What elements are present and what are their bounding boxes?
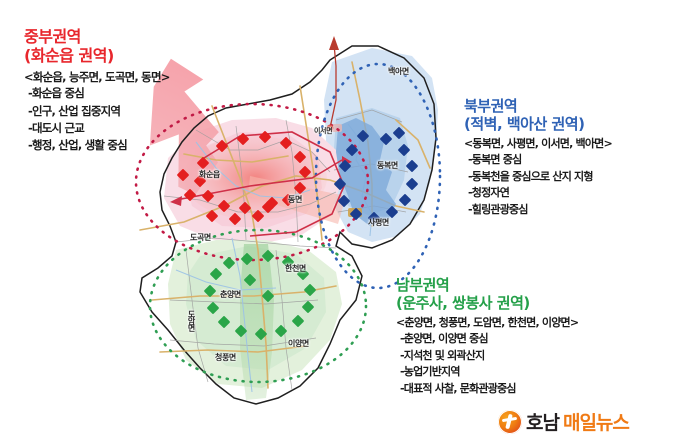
north-title: 북부권역 [464,98,612,116]
panel-north-region: 북부권역 (적벽, 백아산 권역) <동복면, 사평면, 이서면, 백아면> -… [464,98,612,218]
south-header: <춘양면, 청풍면, 도암면, 한천면, 이양면> [396,315,578,331]
north-header: <동복면, 사평면, 이서면, 백아면> [464,136,612,152]
south-item-0: -춘양면, 이양면 중심 [396,331,578,348]
central-subtitle: (화순읍 권역) [24,47,170,66]
place-label: 백아면 [388,66,409,77]
compass-logo-icon [498,410,522,434]
place-label: 이서면 [314,126,332,136]
south-item-3: -대표적 사찰, 문화관광중심 [396,381,578,398]
logo-word-2: 매일뉴스 [563,408,629,435]
publisher-logo[interactable]: 호남 매일뉴스 [498,408,629,435]
central-item-1: -인구, 산업 집중지역 [24,103,170,120]
central-item-3: -행정, 산업, 생활 중심 [24,137,170,154]
north-item-1: -동복천을 중심으로 산지 지형 [464,169,612,186]
south-title: 남부권역 [396,277,578,295]
place-label: 동면 [288,194,302,205]
north-subtitle: (적벽, 백아산 권역) [464,116,612,134]
north-item-0: -동복면 중심 [464,152,612,169]
south-item-2: -농업기반지역 [396,364,578,381]
panel-central-region: 중부권역 (화순읍 권역) <화순읍, 능주면, 도곡면, 동면> -화순읍 중… [24,28,170,154]
place-label: 이양면 [288,338,309,349]
central-item-2: -대도시 근교 [24,120,170,137]
north-item-2: -청정자연 [464,185,612,202]
place-label: 화순읍 [199,169,220,180]
infographic-root: 백아면이서면동복면화순읍동면사평면도곡면한천면춘양면도암면이양면청풍면 중부권역… [0,0,680,440]
place-label: 청풍면 [215,352,236,363]
south-subtitle: (운주사, 쌍봉사 권역) [396,295,578,313]
central-header: <화순읍, 능주면, 도곡면, 동면> [24,69,170,86]
place-label: 춘양면 [220,289,241,300]
place-label: 사평면 [368,217,389,228]
place-label: 도곡면 [190,232,211,243]
place-label: 한천면 [285,263,306,274]
south-item-1: -지석천 및 외곽산지 [396,348,578,365]
central-item-0: -화순읍 중심 [24,85,170,102]
panel-south-region: 남부권역 (운주사, 쌍봉사 권역) <춘양면, 청풍면, 도암면, 한천면, … [396,277,578,397]
north-item-3: -힐링관광중심 [464,202,612,219]
place-label: 동복면 [377,160,398,171]
logo-word-1: 호남 [526,408,559,435]
central-title: 중부권역 [24,28,170,47]
place-label: 도암면 [186,310,197,331]
